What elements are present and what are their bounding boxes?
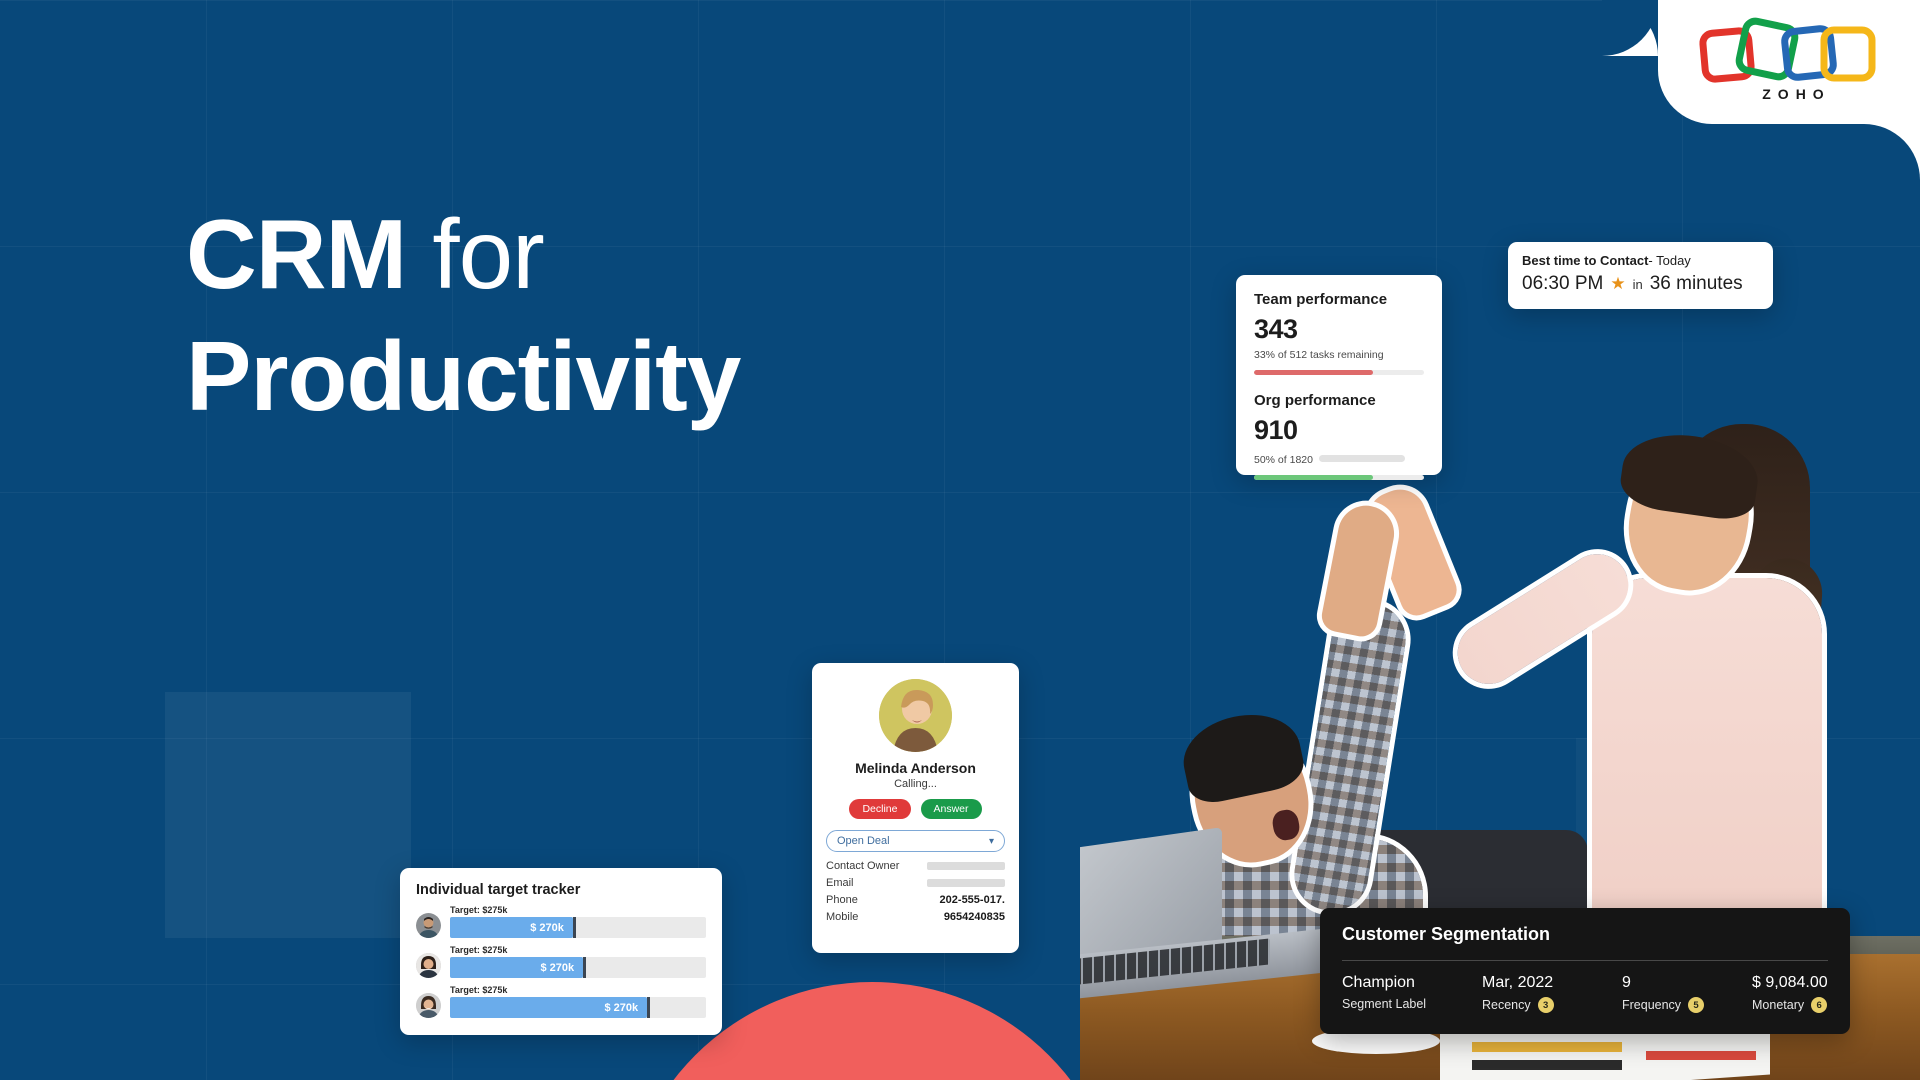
target-tracker-row: Target: $275k $ 270k <box>416 905 706 938</box>
contact-field-label: Contact Owner <box>826 860 899 872</box>
status-badge: 6 <box>1811 997 1827 1013</box>
team-performance-progress-track <box>1254 370 1424 375</box>
team-performance-block: Team performance 343 33% of 512 tasks re… <box>1254 291 1424 375</box>
notch-corner-bottom-right <box>1864 124 1920 180</box>
customer-segmentation-columns: Champion Segment Label Mar, 2022 Recency… <box>1342 974 1828 1013</box>
team-performance-title: Team performance <box>1254 291 1424 308</box>
segment-label-row: Frequency 5 <box>1622 997 1752 1013</box>
paper-chart-bar-red <box>1646 1051 1756 1060</box>
avatar <box>416 953 441 978</box>
target-tracker-marker <box>583 957 586 978</box>
best-time-countdown: 36 minutes <box>1650 273 1743 295</box>
headline-line-1: CRM for <box>186 205 740 303</box>
contact-field-redacted-value <box>927 862 1005 870</box>
woman-blouse <box>1592 578 1822 938</box>
segment-column-segment-label: Champion Segment Label <box>1342 974 1482 1013</box>
target-tracker-value: $ 270k <box>540 962 574 974</box>
contact-field-row: Mobile 9654240835 <box>826 911 1005 923</box>
open-deal-select[interactable]: Open Deal ▾ <box>826 830 1005 852</box>
segment-label: Segment Label <box>1342 997 1426 1011</box>
best-time-value: 06:30 PM <box>1522 273 1603 295</box>
zoho-logo-mark <box>1698 16 1884 90</box>
best-time-day: - Today <box>1648 253 1690 268</box>
contact-field-redacted-value <box>927 879 1005 887</box>
best-time-value-row: 06:30 PM ★ in 36 minutes <box>1522 273 1759 295</box>
avatar <box>416 993 441 1018</box>
contact-name: Melinda Anderson <box>826 760 1005 776</box>
target-tracker-track: $ 270k <box>450 917 706 938</box>
target-tracker-bar-wrap: Target: $275k $ 270k <box>450 945 706 978</box>
team-performance-progress-fill <box>1254 370 1373 375</box>
segment-label-row: Segment Label <box>1342 997 1482 1011</box>
best-time-label-row: Best time to Contact- Today <box>1522 253 1759 268</box>
org-performance-subtitle-row: 50% of 1820 <box>1254 450 1424 466</box>
target-tracker-bar-wrap: Target: $275k $ 270k <box>450 905 706 938</box>
star-icon: ★ <box>1610 274 1625 294</box>
contact-fields: Contact Owner Email Phone 202-555-017. M… <box>826 860 1005 923</box>
zoho-wordmark: ZOHO <box>1762 86 1830 102</box>
org-performance-progress-track <box>1254 475 1424 480</box>
segment-label-row: Recency 3 <box>1482 997 1622 1013</box>
chevron-down-icon: ▾ <box>989 836 994 847</box>
target-tracker-marker <box>647 997 650 1018</box>
page-title: CRM for Productivity <box>186 205 740 425</box>
best-time-in-word: in <box>1633 277 1643 292</box>
incoming-call-card[interactable]: Melinda Anderson Calling... Decline Answ… <box>812 663 1019 953</box>
answer-button[interactable]: Answer <box>921 799 982 819</box>
segment-column-monetary: $ 9,084.00 Monetary 6 <box>1752 974 1828 1013</box>
paper-chart-bar-yellow <box>1472 1042 1622 1052</box>
headline-line-2: Productivity <box>186 327 740 425</box>
segment-value: Champion <box>1342 974 1482 992</box>
call-status: Calling... <box>826 778 1005 790</box>
target-tracker-fill: $ 270k <box>450 917 573 938</box>
segment-label: Frequency <box>1622 998 1681 1012</box>
notch-corner-left <box>1602 0 1658 56</box>
target-tracker-fill: $ 270k <box>450 957 583 978</box>
contact-field-value: 9654240835 <box>944 911 1005 923</box>
segment-label-row: Monetary 6 <box>1752 997 1828 1013</box>
team-performance-subtitle: 33% of 512 tasks remaining <box>1254 349 1424 361</box>
status-badge: 5 <box>1688 997 1704 1013</box>
target-tracker-track: $ 270k <box>450 997 706 1018</box>
org-performance-placeholder-bar <box>1319 455 1405 462</box>
decline-button[interactable]: Decline <box>849 799 910 819</box>
segment-value: Mar, 2022 <box>1482 974 1622 992</box>
individual-target-tracker-card[interactable]: Individual target tracker Target: $275k … <box>400 868 722 1035</box>
target-tracker-track: $ 270k <box>450 957 706 978</box>
target-tracker-fill: $ 270k <box>450 997 647 1018</box>
segment-label: Monetary <box>1752 998 1804 1012</box>
contact-field-label: Phone <box>826 894 858 906</box>
contact-field-row: Contact Owner <box>826 860 1005 872</box>
call-actions: Decline Answer <box>826 799 1005 819</box>
avatar <box>879 679 952 752</box>
segment-value: 9 <box>1622 974 1752 992</box>
target-tracker-target-label: Target: $275k <box>450 945 706 955</box>
headline-crm: CRM <box>186 199 406 309</box>
org-performance-subtitle: 50% of 1820 <box>1254 454 1313 466</box>
team-performance-value: 343 <box>1254 314 1424 345</box>
best-time-to-contact-card[interactable]: Best time to Contact- Today 06:30 PM ★ i… <box>1508 242 1773 309</box>
paper-chart-bar-black <box>1472 1060 1622 1070</box>
target-tracker-value: $ 270k <box>604 1002 638 1014</box>
background-grid-highlight-cell <box>165 692 411 938</box>
customer-segmentation-title: Customer Segmentation <box>1342 924 1828 945</box>
org-performance-block: Org performance 910 50% of 1820 <box>1254 392 1424 480</box>
target-tracker-bar-wrap: Target: $275k $ 270k <box>450 985 706 1018</box>
zoho-logo[interactable]: ZOHO <box>1698 16 1884 106</box>
contact-field-row: Email <box>826 877 1005 889</box>
segment-value: $ 9,084.00 <box>1752 974 1828 992</box>
target-tracker-row: Target: $275k $ 270k <box>416 945 706 978</box>
customer-segmentation-card[interactable]: Customer Segmentation Champion Segment L… <box>1320 908 1850 1034</box>
contact-field-label: Email <box>826 877 854 889</box>
target-tracker-marker <box>573 917 576 938</box>
segment-column-frequency: 9 Frequency 5 <box>1622 974 1752 1013</box>
contact-field-value: 202-555-017. <box>940 894 1005 906</box>
best-time-label: Best time to Contact <box>1522 253 1648 268</box>
org-performance-title: Org performance <box>1254 392 1424 409</box>
segment-column-recency: Mar, 2022 Recency 3 <box>1482 974 1622 1013</box>
headline-for: for <box>432 199 543 309</box>
divider <box>1342 960 1828 961</box>
segment-label: Recency <box>1482 998 1531 1012</box>
logo-notch-panel: ZOHO <box>1658 0 1920 124</box>
target-tracker-value: $ 270k <box>530 922 564 934</box>
target-tracker-title: Individual target tracker <box>416 882 706 898</box>
target-tracker-target-label: Target: $275k <box>450 985 706 995</box>
contact-field-row: Phone 202-555-017. <box>826 894 1005 906</box>
team-performance-card[interactable]: Team performance 343 33% of 512 tasks re… <box>1236 275 1442 475</box>
status-badge: 3 <box>1538 997 1554 1013</box>
target-tracker-row: Target: $275k $ 270k <box>416 985 706 1018</box>
avatar <box>416 913 441 938</box>
contact-field-label: Mobile <box>826 911 858 923</box>
target-tracker-target-label: Target: $275k <box>450 905 706 915</box>
org-performance-value: 910 <box>1254 415 1424 446</box>
open-deal-select-value: Open Deal <box>837 835 890 847</box>
org-performance-progress-fill <box>1254 475 1373 480</box>
